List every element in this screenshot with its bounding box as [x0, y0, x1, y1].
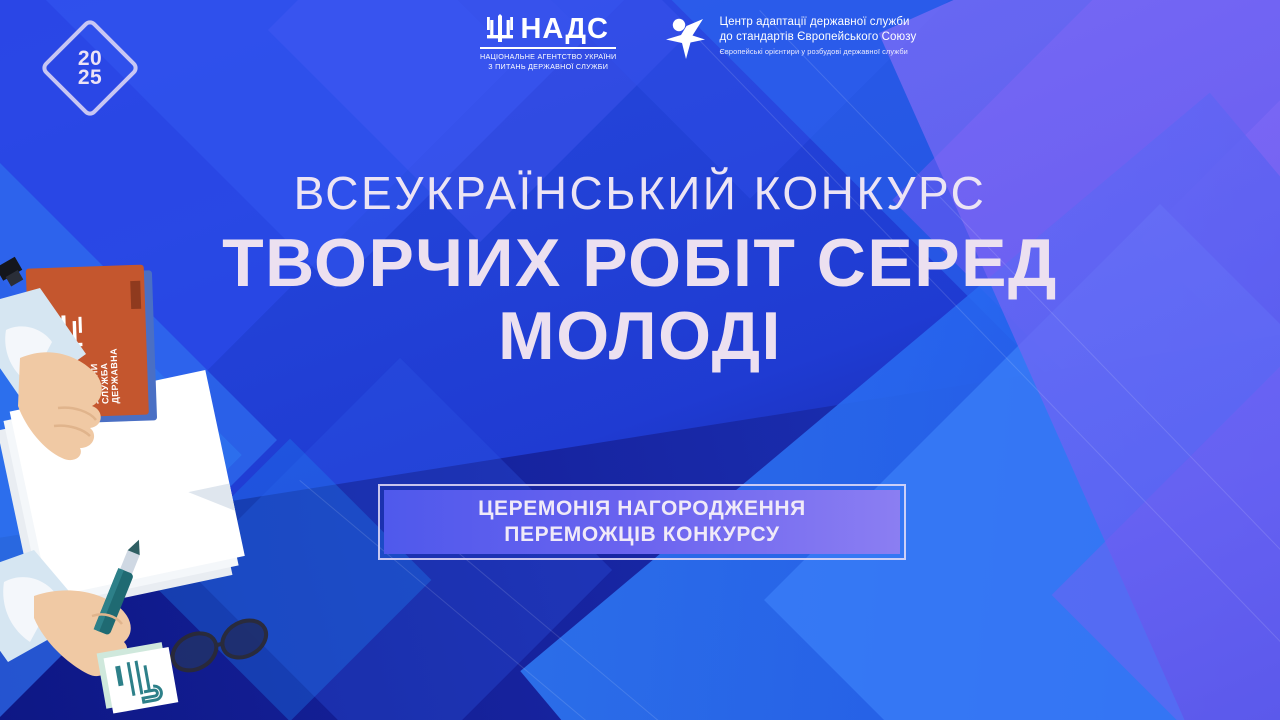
ukraine-trident-icon [487, 14, 513, 44]
ceremony-ribbon: ЦЕРЕМОНІЯ НАГОРОДЖЕННЯ ПЕРЕМОЖЦІВ КОНКУР… [378, 484, 906, 560]
ribbon-line-2: ПЕРЕМОЖЦІВ КОНКУРСУ [504, 522, 779, 548]
header: 20 25 [0, 0, 1280, 96]
center-line1: Центр адаптації державної служби [719, 15, 916, 30]
star-person-icon [662, 14, 708, 60]
title-line-1: ВСЕУКРАЇНСЬКИЙ КОНКУРС [0, 168, 1280, 219]
nads-logo: НАДС НАЦІОНАЛЬНЕ АГЕНТСТВО УКРАЇНИ З ПИТ… [480, 14, 616, 71]
center-logo-text: Центр адаптації державної служби до стан… [719, 14, 916, 57]
nads-acronym: НАДС [520, 15, 609, 44]
poster-canvas: ДЕРЖАВНА СЛУЖБА УКРАЇНИ [0, 0, 1280, 720]
center-line2: до стандартів Європейського Союзу [719, 30, 916, 45]
year-badge: 20 25 [38, 16, 142, 120]
ceremony-ribbon-inner: ЦЕРЕМОНІЯ НАГОРОДЖЕННЯ ПЕРЕМОЖЦІВ КОНКУР… [384, 490, 900, 554]
title-line-2: ТВОРЧИХ РОБІТ СЕРЕД [0, 227, 1280, 300]
nads-divider [480, 47, 616, 49]
title-main: ТВОРЧИХ РОБІТ СЕРЕД МОЛОДІ [0, 227, 1280, 374]
center-logo: Центр адаптації державної служби до стан… [662, 14, 916, 60]
ribbon-line-1: ЦЕРЕМОНІЯ НАГОРОДЖЕННЯ [478, 496, 806, 522]
title-line-3: МОЛОДІ [0, 300, 1280, 373]
nads-subtitle-line1: НАЦІОНАЛЬНЕ АГЕНТСТВО УКРАЇНИ [480, 52, 616, 62]
nads-logo-mark: НАДС [487, 14, 609, 44]
year-bottom: 25 [78, 68, 102, 87]
year-badge-text: 20 25 [38, 16, 142, 120]
nads-subtitle-line2: З ПИТАНЬ ДЕРЖАВНОЇ СЛУЖБИ [480, 62, 616, 72]
logo-row: НАДС НАЦІОНАЛЬНЕ АГЕНТСТВО УКРАЇНИ З ПИТ… [480, 14, 916, 71]
center-tagline: Європейські орієнтири у розбудові держав… [719, 47, 916, 57]
title-block: ВСЕУКРАЇНСЬКИЙ КОНКУРС ТВОРЧИХ РОБІТ СЕР… [0, 168, 1280, 373]
nads-subtitle: НАЦІОНАЛЬНЕ АГЕНТСТВО УКРАЇНИ З ПИТАНЬ Д… [480, 52, 616, 71]
